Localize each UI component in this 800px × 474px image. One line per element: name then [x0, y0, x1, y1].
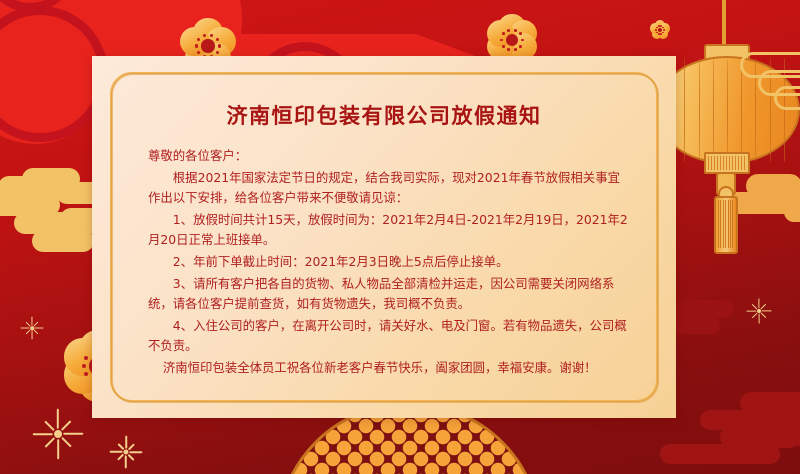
cloud-decoration-bottom-right-2	[660, 420, 800, 474]
sparkle-icon-2	[112, 438, 140, 466]
salutation: 尊敬的各位客户：	[148, 146, 632, 167]
notice-item-4: 4、入住公司的客户，在离开公司时，请关好水、电及门窗。若有物品遗失，公司概不负责…	[148, 316, 632, 357]
sparkle-icon-1	[36, 412, 80, 456]
notice-card: 济南恒印包装有限公司放假通知 尊敬的各位客户： 根据2021年国家法定节日的规定…	[92, 56, 676, 418]
notice-body: 尊敬的各位客户： 根据2021年国家法定节日的规定，结合我司实际，现对2021年…	[148, 146, 632, 380]
notice-item-1: 1、放假时间共计15天，放假时间为：2021年2月4日-2021年2月19日，2…	[148, 210, 632, 251]
notice-item-3: 3、请所有客户把各自的货物、私人物品全部清检并运走，因公司需要关闭网络系统，请各…	[148, 274, 632, 315]
closing-greeting: 济南恒印包装全体员工祝各位新老客户春节快乐，阖家团圆，幸福安康。谢谢！	[148, 358, 632, 379]
gold-cloud-outline-right	[768, 52, 800, 100]
intro-paragraph: 根据2021年国家法定节日的规定，结合我司实际，现对2021年春节放假相关事宜作…	[148, 168, 632, 209]
notice-item-2: 2、年前下单截止时间：2021年2月3日晚上5点后停止接单。	[148, 252, 632, 273]
holiday-notice-poster: 济南恒印包装有限公司放假通知 尊敬的各位客户： 根据2021年国家法定节日的规定…	[0, 0, 800, 474]
sparkle-icon-4	[748, 300, 770, 322]
sparkle-icon-3	[22, 318, 42, 338]
page-title: 济南恒印包装有限公司放假通知	[92, 100, 676, 130]
plum-blossom-icon-small-right	[650, 20, 670, 40]
